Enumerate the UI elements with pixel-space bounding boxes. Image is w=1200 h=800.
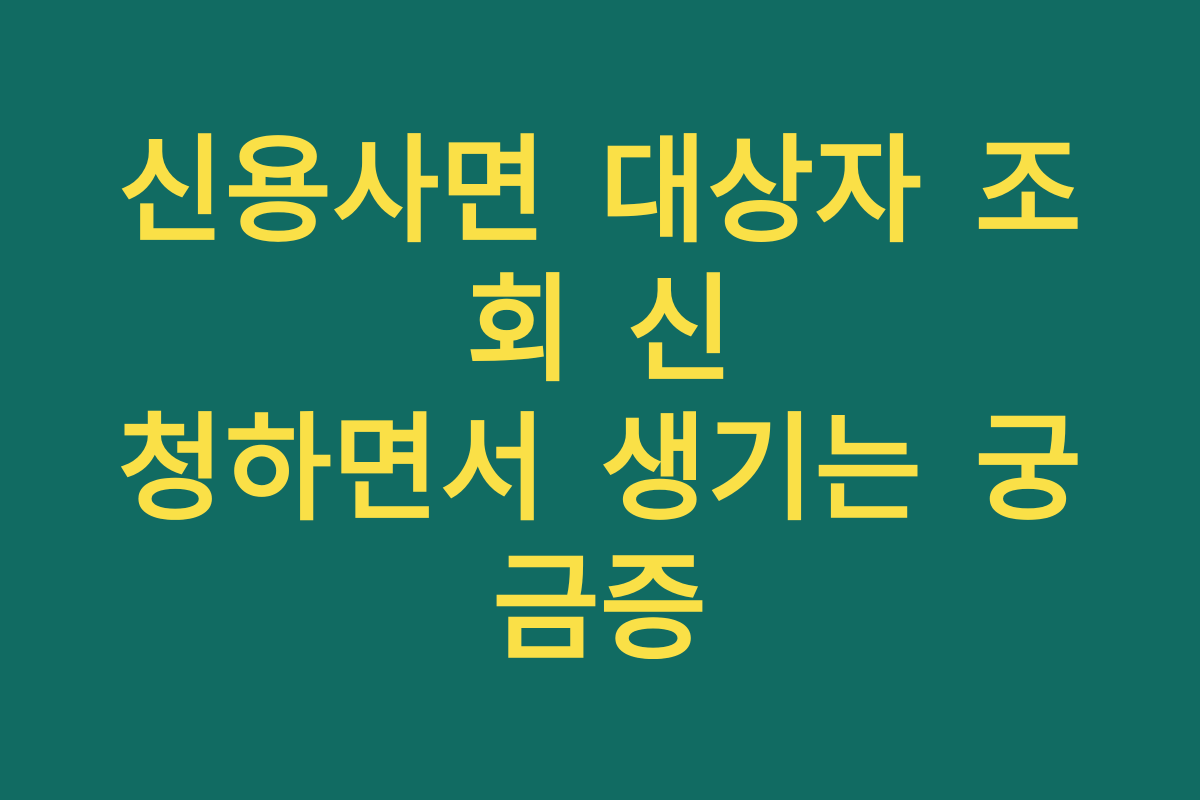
headline-text: 신용사면 대상자 조회 신 청하면서 생기는 궁금증 <box>70 122 1130 679</box>
text-banner: 신용사면 대상자 조회 신 청하면서 생기는 궁금증 <box>0 0 1200 800</box>
